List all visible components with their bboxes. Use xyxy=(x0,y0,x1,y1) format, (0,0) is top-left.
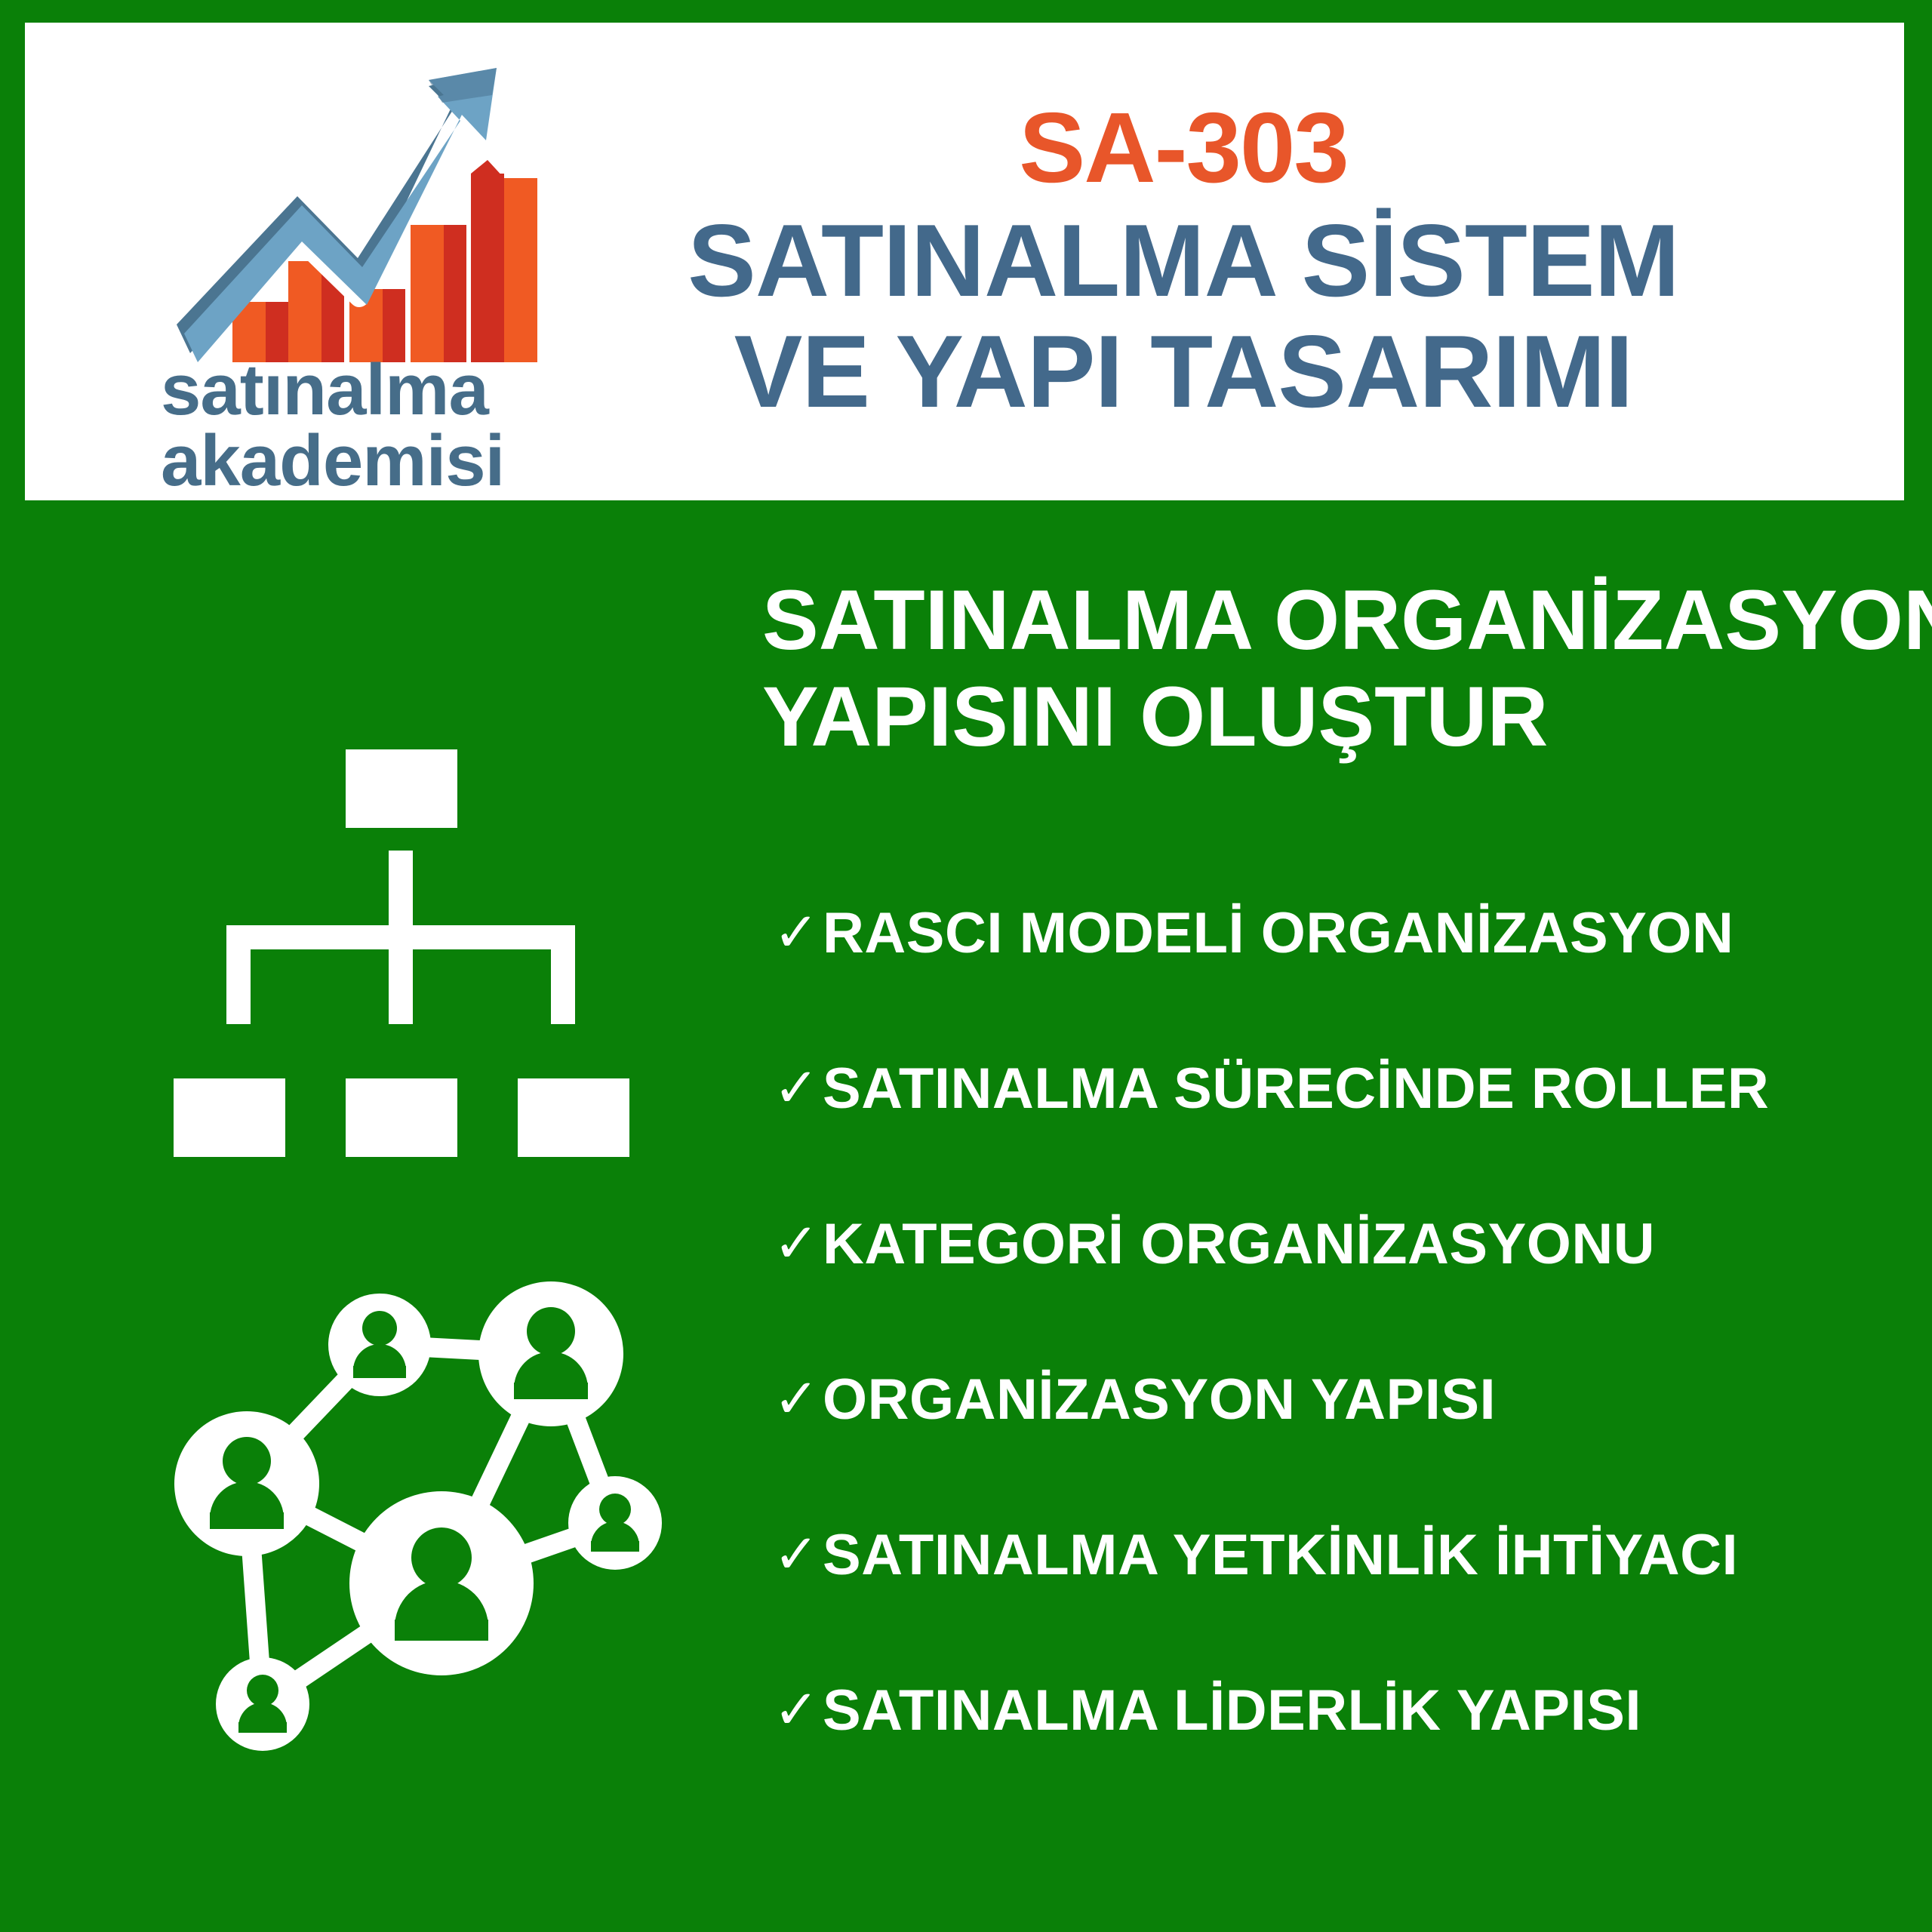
list-item: ✓ RASCI MODELİ ORGANİZASYON xyxy=(740,855,1872,1011)
list-item-label: RASCI MODELİ ORGANİZASYON xyxy=(823,900,1734,966)
section-heading-line2: YAPISINI OLUŞTUR xyxy=(762,669,1932,765)
course-code: SA-303 xyxy=(1019,96,1348,201)
growth-chart-logo-icon xyxy=(157,45,549,362)
check-icon: ✓ xyxy=(740,1061,823,1115)
list-item-label: KATEGORİ ORGANİZASYONU xyxy=(823,1211,1655,1277)
list-item: ✓ SATINALMA YETKİNLİK İHTİYACI xyxy=(740,1477,1872,1632)
brand-logo: satınalma akademisi xyxy=(25,23,493,500)
page-title: SATINALMA SİSTEM VE YAPI TASARIMI xyxy=(688,205,1679,427)
check-icon: ✓ xyxy=(740,1683,823,1737)
section-heading: SATINALMA ORGANİZASYON YAPISINI OLUŞTUR xyxy=(762,572,1932,764)
list-item: ✓ ORGANİZASYON YAPISI xyxy=(740,1321,1872,1477)
check-icon: ✓ xyxy=(740,1527,823,1582)
check-icon: ✓ xyxy=(740,1217,823,1271)
course-title-block: SA-303 SATINALMA SİSTEM VE YAPI TASARIMI xyxy=(493,23,1904,500)
section-heading-line1: SATINALMA ORGANİZASYON xyxy=(762,572,1932,669)
check-icon: ✓ xyxy=(740,906,823,960)
people-network-icon xyxy=(140,1281,698,1840)
brand-wordmark-line2: akademisi xyxy=(161,426,583,497)
page-title-line2: VE YAPI TASARIMI xyxy=(688,316,1679,427)
brand-wordmark: satınalma akademisi xyxy=(161,355,583,497)
check-icon: ✓ xyxy=(740,1372,823,1426)
list-item-label: ORGANİZASYON YAPISI xyxy=(823,1367,1496,1432)
list-item-label: SATINALMA SÜRECİNDE ROLLER xyxy=(823,1056,1769,1121)
content-column: SATINALMA ORGANİZASYON YAPISINI OLUŞTUR … xyxy=(740,500,1932,1932)
page-title-line1: SATINALMA SİSTEM xyxy=(688,205,1679,316)
list-item-label: SATINALMA YETKİNLİK İHTİYACI xyxy=(823,1522,1738,1588)
brand-wordmark-line1: satınalma xyxy=(161,349,488,430)
list-item: ✓ SATINALMA SÜRECİNDE ROLLER xyxy=(740,1011,1872,1166)
list-item-label: SATINALMA LİDERLİK YAPISI xyxy=(823,1678,1641,1743)
list-item: ✓ KATEGORİ ORGANİZASYONU xyxy=(740,1166,1872,1321)
header-card: satınalma akademisi SA-303 SATINALMA SİS… xyxy=(25,23,1904,500)
content-area: SATINALMA ORGANİZASYON YAPISINI OLUŞTUR … xyxy=(0,500,1932,1932)
list-item: ✓ SATINALMA LİDERLİK YAPISI xyxy=(740,1632,1872,1788)
icon-column xyxy=(113,500,732,1932)
topic-list: ✓ RASCI MODELİ ORGANİZASYON ✓ SATINALMA … xyxy=(740,855,1872,1788)
org-chart-icon xyxy=(166,742,649,1172)
